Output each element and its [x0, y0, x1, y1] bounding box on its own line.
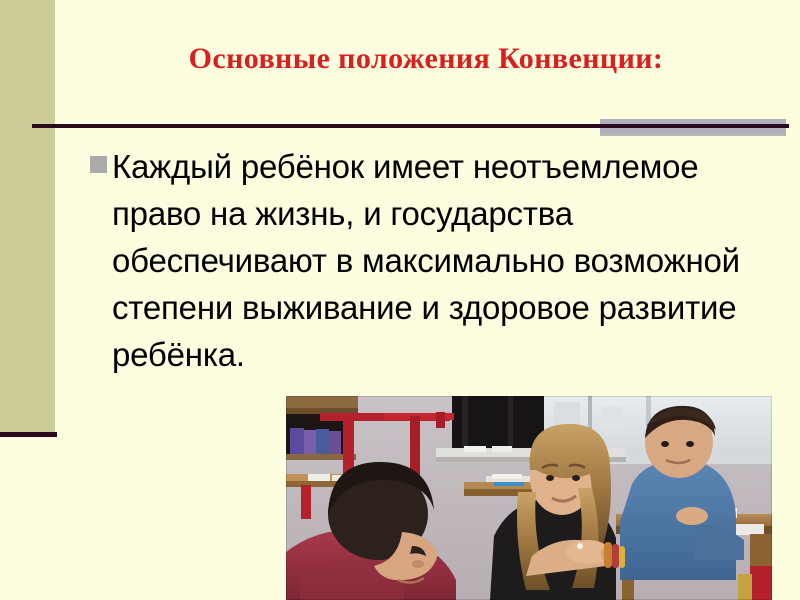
left-decorative-band	[0, 0, 55, 437]
bullet-item-label: Каждый ребёнок имеет неотъемлемое право …	[112, 143, 770, 378]
body-zone: Каждый ребёнок имеет неотъемлемое право …	[90, 143, 770, 378]
classroom-photo	[286, 396, 772, 600]
list-item: Каждый ребёнок имеет неотъемлемое право …	[90, 143, 770, 378]
page-title: Основные положения Конвенции:	[88, 43, 764, 75]
title-zone: Основные положения Конвенции:	[55, 0, 800, 120]
classroom-photo-illustration	[286, 396, 772, 600]
divider-rule	[32, 124, 789, 128]
square-bullet-icon	[90, 156, 107, 173]
left-band-bottom-rule	[0, 432, 57, 437]
presentation-slide: Основные положения Конвенции: Каждый реб…	[0, 0, 800, 600]
